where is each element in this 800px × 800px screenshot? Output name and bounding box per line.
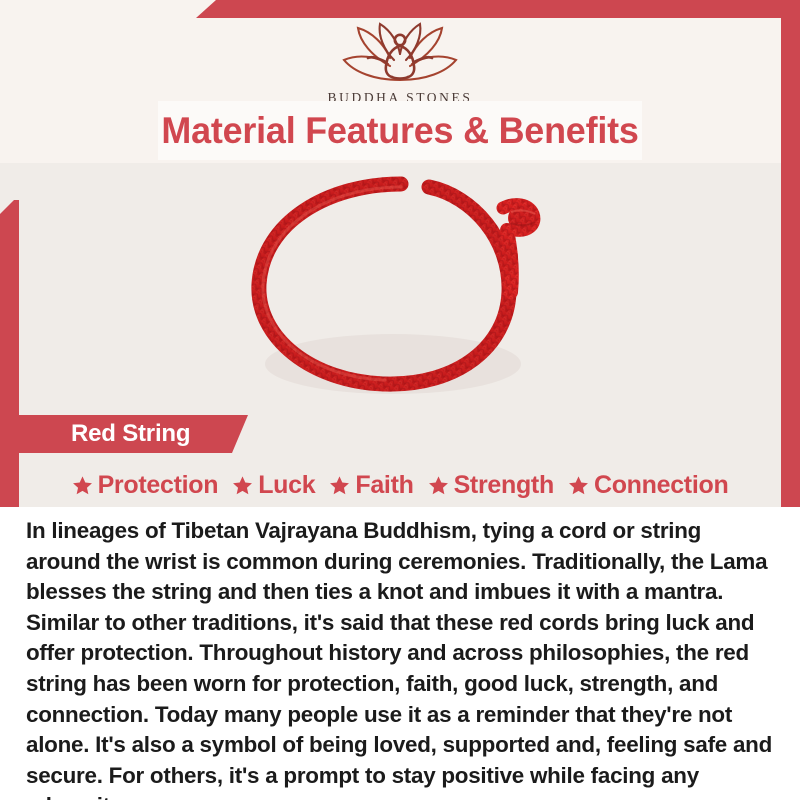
infographic-poster: BUDDHA STONES Material Features & Benefi…: [0, 0, 800, 800]
description-block: In lineages of Tibetan Vajrayana Buddhis…: [0, 507, 800, 800]
benefit-item: Strength: [421, 471, 561, 500]
lotus-meditation-icon: [330, 16, 470, 88]
product-label: Red String: [71, 420, 190, 448]
star-icon: [72, 475, 93, 496]
benefit-item: Luck: [225, 471, 322, 500]
benefit-label: Protection: [98, 471, 219, 500]
benefit-label: Strength: [454, 471, 554, 500]
benefit-label: Faith: [355, 471, 413, 500]
benefit-label: Luck: [258, 471, 315, 500]
product-image-red-string-bracelet: [215, 168, 585, 416]
star-icon: [329, 475, 350, 496]
benefit-label: Connection: [594, 471, 729, 500]
star-icon: [428, 475, 449, 496]
benefit-item: Connection: [561, 471, 736, 500]
benefit-item: Faith: [322, 471, 420, 500]
star-icon: [568, 475, 589, 496]
page-title: Material Features & Benefits: [161, 110, 638, 152]
benefits-list: Protection Luck Faith S: [0, 466, 800, 504]
title-banner: Material Features & Benefits: [158, 101, 642, 160]
product-label-banner: Red String: [19, 415, 248, 453]
description-paragraph: In lineages of Tibetan Vajrayana Buddhis…: [26, 516, 774, 800]
brand-logo: BUDDHA STONES: [0, 16, 800, 106]
benefit-item: Protection: [65, 471, 226, 500]
decorative-left-bar: [0, 200, 19, 510]
star-icon: [232, 475, 253, 496]
